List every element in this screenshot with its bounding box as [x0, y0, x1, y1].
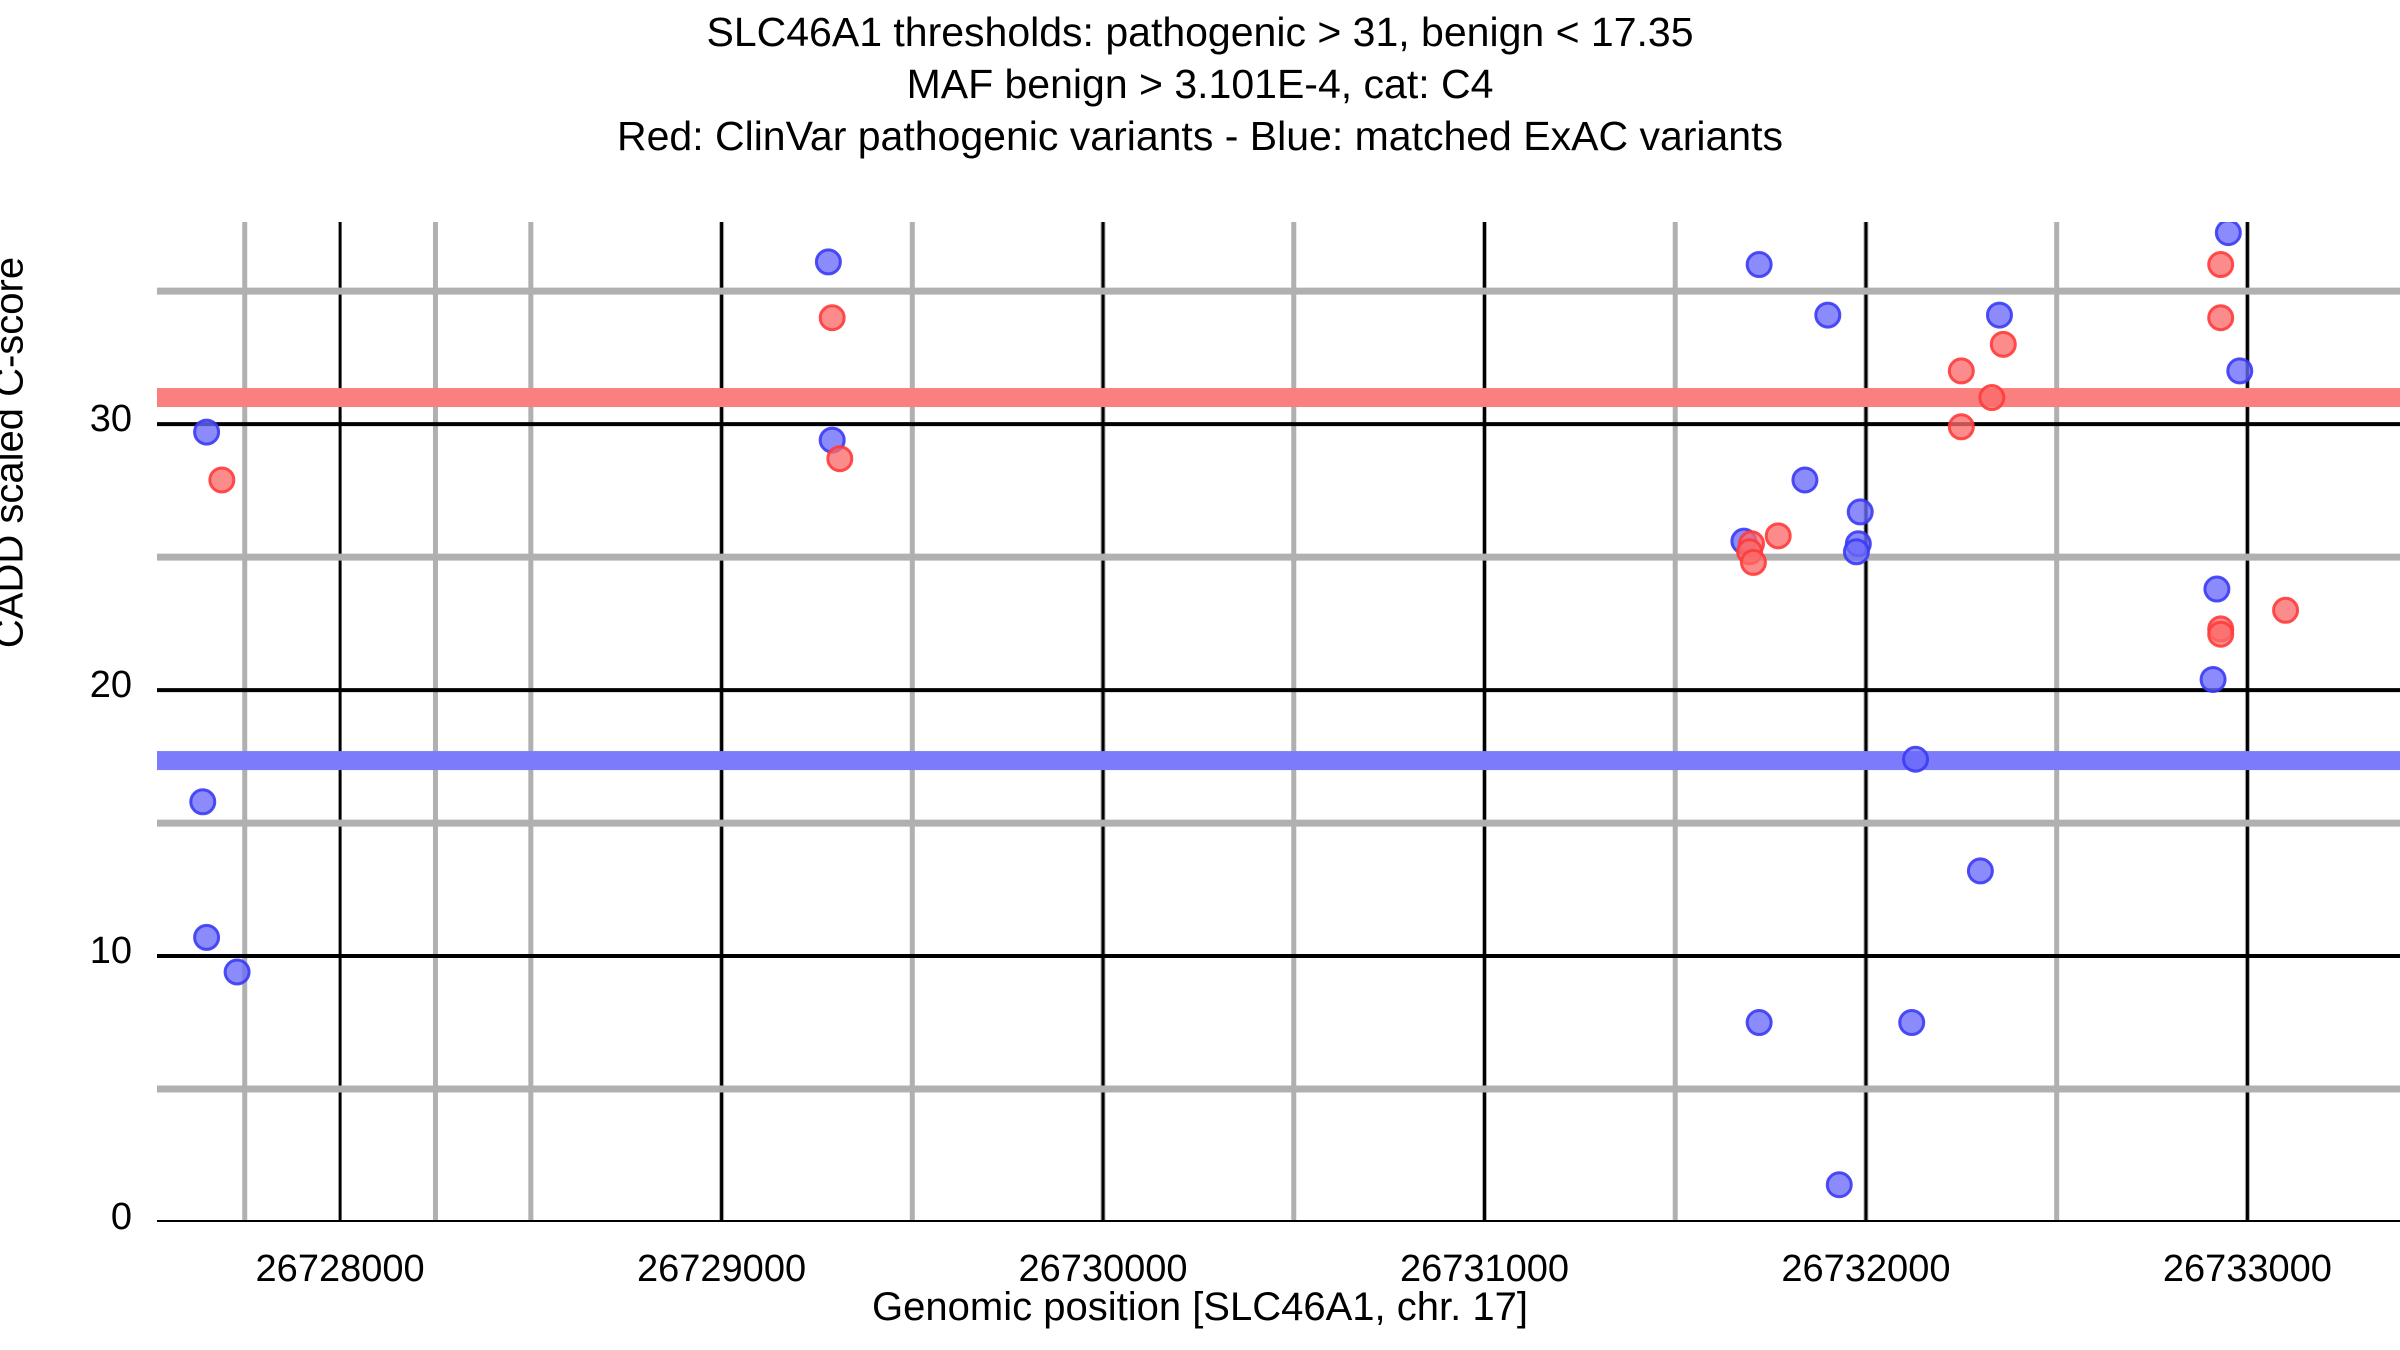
- data-point[interactable]: [1747, 1011, 1771, 1035]
- data-point[interactable]: [2209, 306, 2233, 330]
- data-point[interactable]: [1848, 500, 1872, 524]
- data-point[interactable]: [225, 960, 249, 984]
- data-point[interactable]: [2216, 222, 2240, 245]
- x-gridlines: [245, 222, 2248, 1222]
- y-tick-label: 10: [0, 930, 132, 973]
- data-point[interactable]: [2228, 359, 2252, 383]
- data-point[interactable]: [1949, 359, 1973, 383]
- data-point[interactable]: [1793, 468, 1817, 492]
- data-point[interactable]: [1904, 747, 1928, 771]
- data-point[interactable]: [2209, 622, 2233, 646]
- data-point[interactable]: [1900, 1011, 1924, 1035]
- y-tick-label: 0: [0, 1196, 132, 1239]
- data-point[interactable]: [191, 790, 215, 814]
- data-point[interactable]: [1827, 1173, 1851, 1197]
- data-point[interactable]: [210, 468, 234, 492]
- data-point[interactable]: [2205, 577, 2229, 601]
- data-point[interactable]: [2209, 253, 2233, 277]
- data-point[interactable]: [2201, 667, 2225, 691]
- data-point[interactable]: [1747, 253, 1771, 277]
- scatter-plot-figure: SLC46A1 thresholds: pathogenic > 31, ben…: [0, 0, 2400, 1350]
- data-point[interactable]: [195, 420, 219, 444]
- data-point[interactable]: [2274, 598, 2298, 622]
- data-point[interactable]: [195, 925, 219, 949]
- data-point[interactable]: [1980, 386, 2004, 410]
- clinvar-pathogenic-points[interactable]: [210, 253, 2298, 647]
- threshold-bands: [157, 388, 2400, 770]
- exac-variant-points[interactable]: [191, 222, 2252, 1197]
- data-point[interactable]: [828, 447, 852, 471]
- plot-canvas: [157, 222, 2400, 1222]
- benign-threshold-band: [157, 751, 2400, 770]
- data-point[interactable]: [1949, 415, 1973, 439]
- data-point[interactable]: [1844, 540, 1868, 564]
- title-line-2: MAF benign > 3.101E-4, cat: C4: [0, 58, 2400, 110]
- data-point[interactable]: [820, 306, 844, 330]
- plot-area: [157, 222, 2400, 1222]
- data-point[interactable]: [1816, 303, 1840, 327]
- data-point[interactable]: [1968, 859, 1992, 883]
- chart-title: SLC46A1 thresholds: pathogenic > 31, ben…: [0, 6, 2400, 162]
- data-point[interactable]: [1987, 303, 2011, 327]
- y-axis-title: CADD scaled C-score: [0, 3, 33, 903]
- data-point[interactable]: [1991, 332, 2015, 356]
- x-axis-title: Genomic position [SLC46A1, chr. 17]: [0, 1285, 2400, 1330]
- title-line-3: Red: ClinVar pathogenic variants - Blue:…: [0, 110, 2400, 162]
- data-point[interactable]: [1766, 524, 1790, 548]
- data-point[interactable]: [1741, 550, 1765, 574]
- title-line-1: SLC46A1 thresholds: pathogenic > 31, ben…: [0, 6, 2400, 58]
- data-point[interactable]: [816, 250, 840, 274]
- pathogenic-threshold-band: [157, 388, 2400, 407]
